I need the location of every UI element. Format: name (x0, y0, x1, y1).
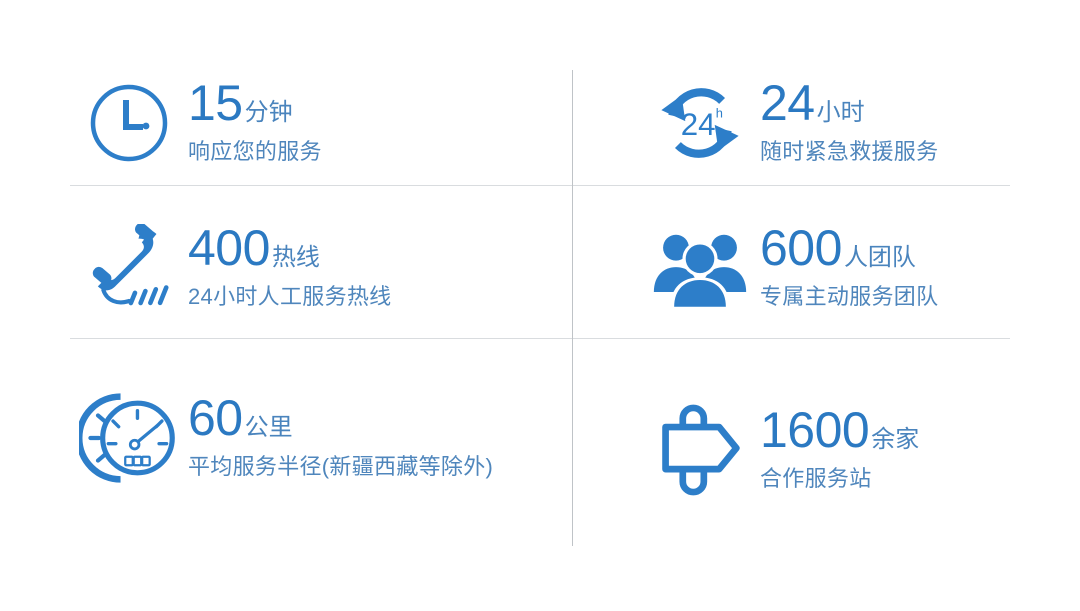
stat-number: 15 (188, 75, 243, 131)
stat-number: 1600 (760, 402, 869, 458)
stat-headline: 600人团队 (760, 223, 1060, 273)
stat-text-service-team: 600人团队 专属主动服务团队 (760, 223, 1060, 313)
stat-number: 24 (760, 75, 815, 131)
stat-card-service-radius: 60公里 平均服务半径(新疆西藏等除外) (70, 355, 570, 520)
people-group-icon (640, 229, 760, 307)
stat-headline: 24小时 (760, 78, 1060, 128)
horizontal-divider-2 (70, 338, 1010, 339)
stat-text-response-time: 15分钟 响应您的服务 (188, 78, 570, 168)
stat-description: 响应您的服务 (188, 136, 570, 168)
stat-number: 60 (188, 390, 243, 446)
stat-number: 400 (188, 220, 270, 276)
stat-headline: 400热线 (188, 223, 570, 273)
stat-unit: 公里 (245, 414, 293, 441)
cycle-icon-suffix: h (716, 105, 723, 120)
stat-card-service-team: 600人团队 专属主动服务团队 (640, 200, 1060, 335)
vertical-divider (572, 70, 573, 546)
stat-text-partner-stations: 1600余家 合作服务站 (760, 405, 1060, 495)
signpost-icon (640, 402, 760, 498)
stat-number: 600 (760, 220, 842, 276)
telephone-icon (70, 224, 188, 312)
stat-card-response-time: 15分钟 响应您的服务 (70, 62, 570, 184)
stat-description: 24小时人工服务热线 (188, 281, 570, 313)
stat-unit: 人团队 (844, 244, 916, 271)
stat-description: 合作服务站 (760, 463, 1060, 495)
cycle-icon-number: 24 (681, 107, 716, 142)
24-hour-cycle-icon: 24 h (640, 77, 760, 169)
service-highlights-board: 15分钟 响应您的服务 24 h 24小时 随时紧急救援服务 (0, 0, 1080, 611)
stat-unit: 小时 (817, 99, 865, 126)
stat-unit: 热线 (272, 244, 320, 271)
horizontal-divider-1 (70, 185, 1010, 186)
speedometer-icon (70, 391, 188, 485)
stat-card-hotline: 400热线 24小时人工服务热线 (70, 200, 570, 335)
clock-icon (70, 79, 188, 167)
stat-description: 平均服务半径(新疆西藏等除外) (188, 451, 554, 483)
stat-text-hotline: 400热线 24小时人工服务热线 (188, 223, 570, 313)
stat-headline: 15分钟 (188, 78, 570, 128)
stat-description: 专属主动服务团队 (760, 281, 1060, 313)
stat-text-emergency-rescue: 24小时 随时紧急救援服务 (760, 78, 1060, 168)
stat-description: 随时紧急救援服务 (760, 136, 1060, 168)
stat-text-service-radius: 60公里 平均服务半径(新疆西藏等除外) (188, 393, 570, 483)
stat-unit: 余家 (871, 426, 919, 453)
stat-card-emergency-rescue: 24 h 24小时 随时紧急救援服务 (640, 62, 1060, 184)
stat-headline: 1600余家 (760, 405, 1060, 455)
stat-card-partner-stations: 1600余家 合作服务站 (640, 385, 1060, 515)
stat-headline: 60公里 (188, 393, 570, 443)
stat-unit: 分钟 (245, 99, 293, 126)
